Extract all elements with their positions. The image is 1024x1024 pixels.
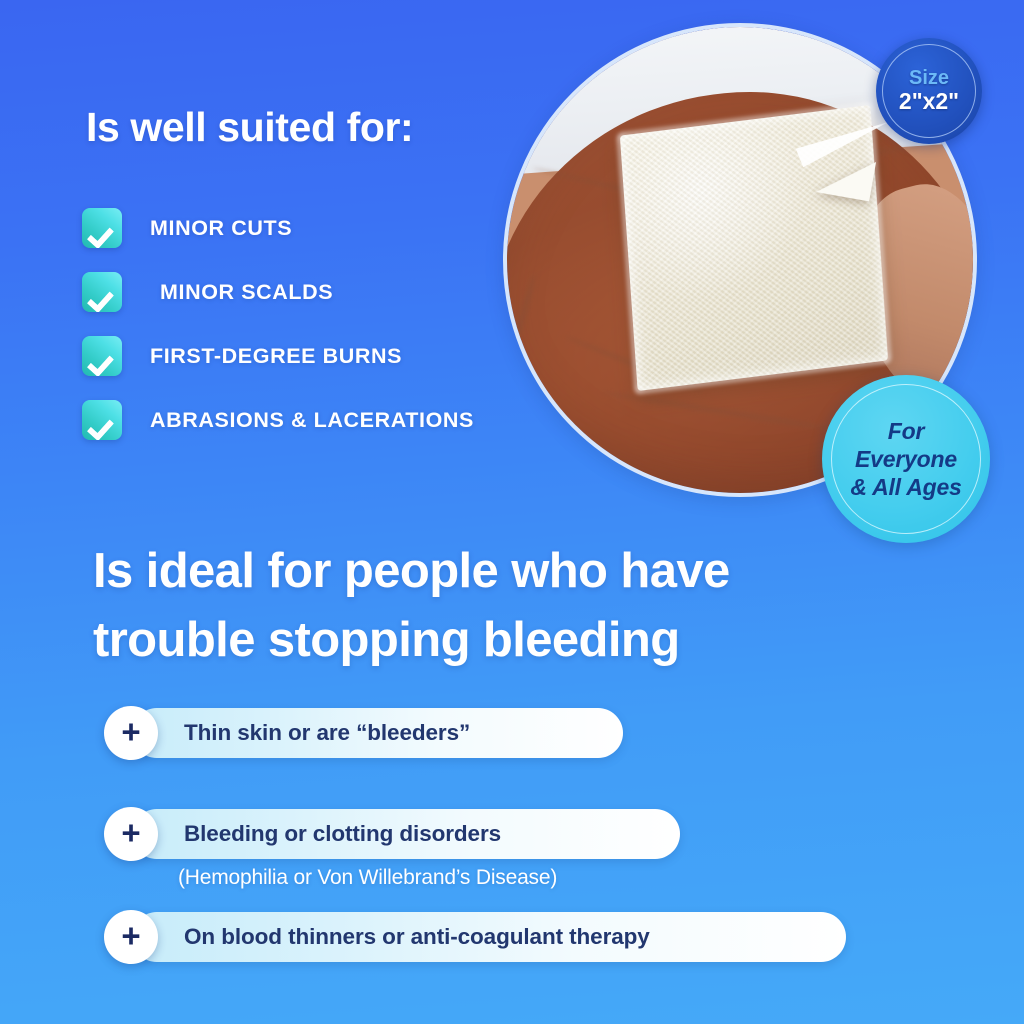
- for-everyone-badge-text: For Everyone & All Ages: [850, 417, 961, 501]
- conditions-list: + Thin skin or are “bleeders” + Bleeding…: [104, 704, 954, 966]
- condition-sublabel: (Hemophilia or Von Willebrand’s Disease): [178, 866, 954, 890]
- ideal-for-heading: Is ideal for people who have trouble sto…: [93, 537, 923, 675]
- palm-crease: [600, 390, 849, 435]
- checkmark-icon: [82, 400, 122, 440]
- checklist-item-label: MINOR CUTS: [150, 216, 292, 241]
- for-everyone-badge: For Everyone & All Ages: [822, 375, 990, 543]
- checklist-item-label: FIRST-DEGREE BURNS: [150, 344, 402, 369]
- plus-icon: +: [104, 910, 158, 964]
- checklist-item-label: MINOR SCALDS: [160, 280, 333, 305]
- condition-label: On blood thinners or anti-coagulant ther…: [184, 924, 650, 950]
- condition-item: + Bleeding or clotting disorders (Hemoph…: [104, 805, 954, 890]
- checkmark-icon: [82, 208, 122, 248]
- size-badge: Size 2"x2": [876, 38, 982, 144]
- condition-label: Thin skin or are “bleeders”: [184, 720, 470, 746]
- condition-label: Bleeding or clotting disorders: [184, 821, 501, 847]
- size-badge-label: Size: [909, 68, 949, 89]
- condition-item: + Thin skin or are “bleeders”: [104, 704, 954, 762]
- checkmark-icon: [82, 272, 122, 312]
- checklist-item: ABRASIONS & LACERATIONS: [82, 388, 552, 452]
- plus-icon: +: [104, 706, 158, 760]
- checklist-item: MINOR CUTS: [82, 196, 552, 260]
- condition-item: + On blood thinners or anti-coagulant th…: [104, 908, 954, 966]
- palm-crease: [507, 273, 538, 361]
- checklist-item-label: ABRASIONS & LACERATIONS: [150, 408, 474, 433]
- checklist-item: MINOR SCALDS: [82, 260, 552, 324]
- infographic-canvas: Is well suited for: MINOR CUTS MINOR SCA…: [0, 0, 1024, 1024]
- plus-icon: +: [104, 807, 158, 861]
- checklist-item: FIRST-DEGREE BURNS: [82, 324, 552, 388]
- suited-for-checklist: MINOR CUTS MINOR SCALDS FIRST-DEGREE BUR…: [82, 196, 552, 452]
- suited-for-title: Is well suited for:: [86, 104, 413, 151]
- checkmark-icon: [82, 336, 122, 376]
- size-badge-value: 2"x2": [899, 89, 959, 114]
